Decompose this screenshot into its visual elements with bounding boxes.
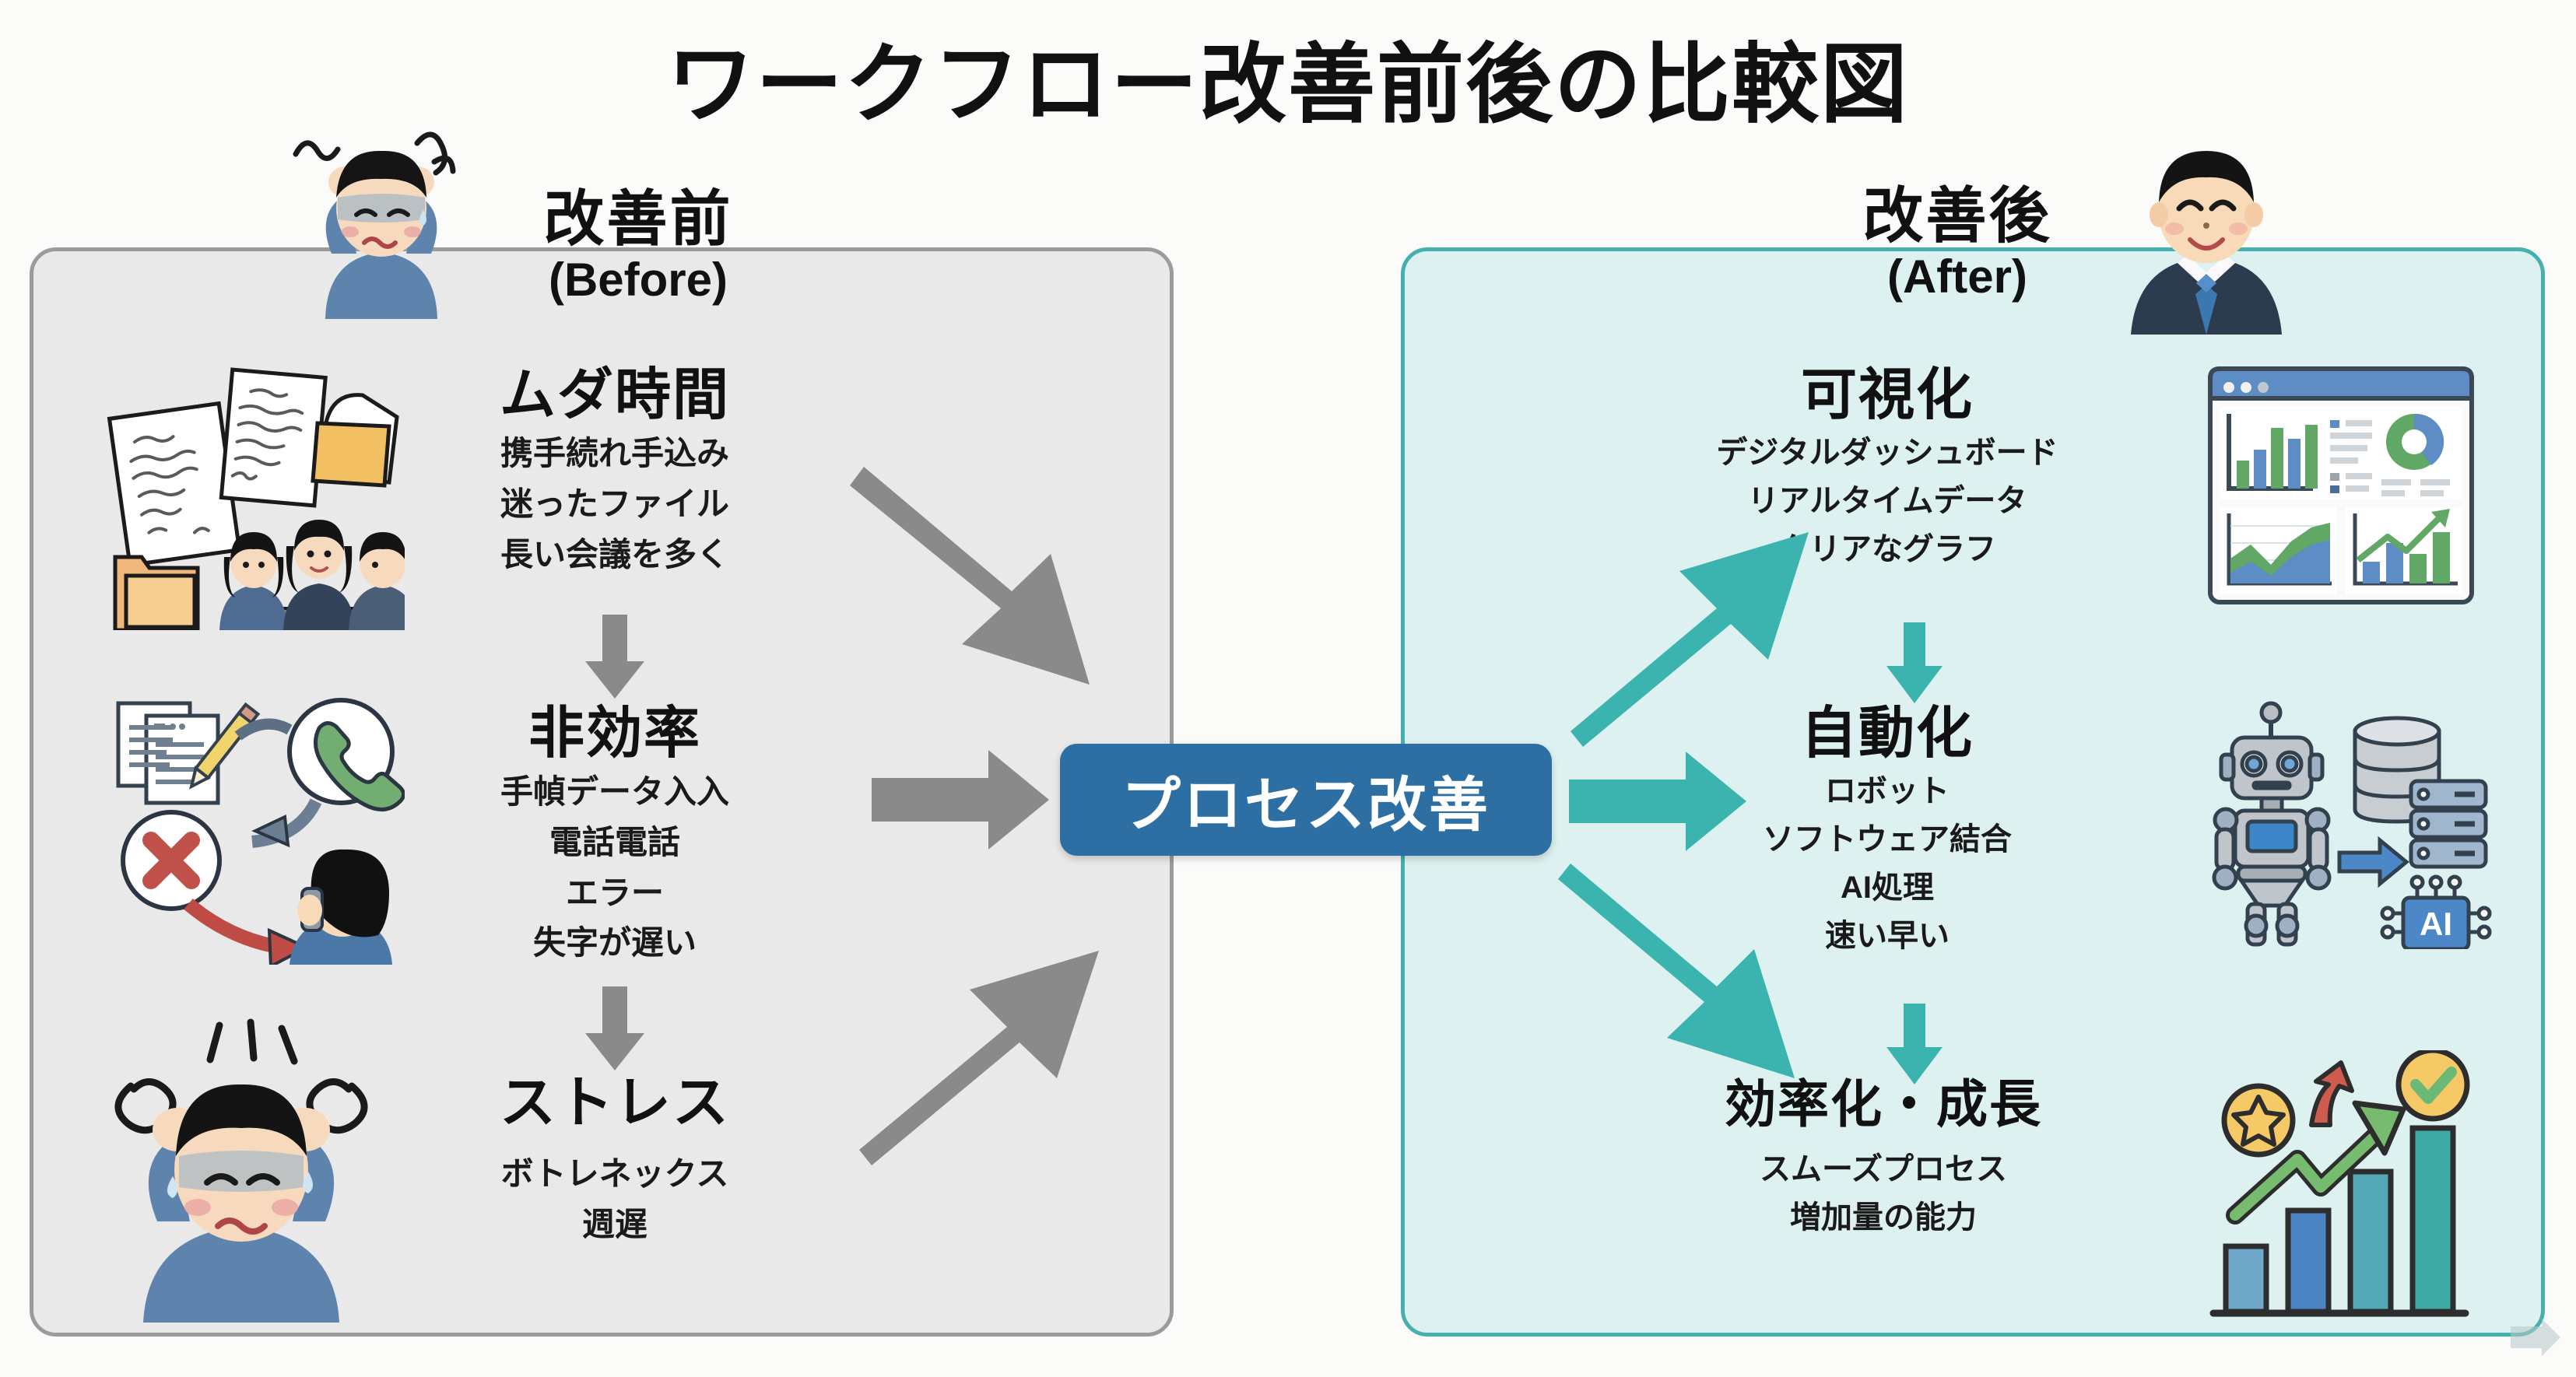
before-connector-1-icon: [576, 615, 654, 704]
before-stage-3-line-2: 週遅: [409, 1204, 821, 1246]
growth-bars-arrow-illustration: [2195, 1050, 2522, 1346]
dashboard-charts-illustration: [2202, 350, 2514, 607]
after-stage-3-line-2: 増加量の能力: [1627, 1197, 2140, 1238]
before-stage-2-line-2: 電話電話: [409, 822, 821, 864]
before-heading-en: (Before): [498, 257, 778, 303]
after-stage-2-line-3: AI処理: [1677, 867, 2097, 908]
process-improvement-label: プロセス改善: [1121, 757, 1490, 843]
before-stage-2: 非効率 手幀データ入入 電話電話 エラー 失字が遅い: [409, 704, 821, 965]
before-stage-1-line-2: 迷ったファイル: [409, 483, 821, 526]
after-stage-1-line-3: クリアなグラフ: [1646, 529, 2129, 569]
before-stage-3: ストレス ボトレネックス 週遅: [409, 1074, 821, 1246]
before-connector-2-icon: [576, 986, 654, 1076]
after-stage-2: 自動化 ロボット ソフトウェア結合 AI処理 速い早い: [1677, 704, 2097, 956]
before-stage-1-line-3: 長い会議を多く: [409, 534, 821, 576]
robot-server-ai-illustration: AI: [2210, 692, 2537, 949]
before-stage-2-line-1: 手幀データ入入: [409, 771, 821, 814]
process-improvement-box[interactable]: プロセス改善: [1060, 744, 1552, 856]
ai-chip-label: AI: [2420, 906, 2452, 942]
before-heading: 改善前 (Before): [498, 188, 778, 303]
paperwork-phone-error-illustration: [78, 677, 405, 965]
after-stage-2-title: 自動化: [1677, 704, 2097, 763]
corner-arrow-icon: [2508, 1317, 2564, 1369]
before-stage-2-title: 非効率: [409, 704, 821, 763]
before-stage-1: ムダ時間 携手続れ手込み 迷ったファイル 長い会議を多く: [409, 366, 821, 576]
before-stage-1-line-1: 携手続れ手込み: [409, 433, 821, 475]
stressed-person-avatar: [265, 117, 498, 319]
before-stage-3-title: ストレス: [409, 1074, 821, 1133]
after-heading-jp: 改善後: [1813, 185, 2101, 246]
smiling-businessman-avatar: [2093, 124, 2319, 335]
before-stage-1-title: ムダ時間: [409, 366, 821, 425]
before-stage-2-line-4: 失字が遅い: [409, 922, 821, 965]
infographic-canvas: ワークフロー改善前後の比較図: [0, 0, 2576, 1377]
after-heading-en: (After): [1813, 254, 2101, 300]
documents-folders-meeting-illustration: [78, 342, 405, 630]
before-stage-2-line-3: エラー: [409, 872, 821, 915]
after-connector-1-icon: [1876, 622, 1953, 710]
after-stage-1-line-1: デジタルダッシュボード: [1646, 433, 2129, 473]
after-stage-2-line-4: 速い早い: [1677, 916, 2097, 956]
stressed-person-illustration: [86, 1011, 397, 1323]
after-stage-3-line-1: スムーズプロセス: [1627, 1149, 2140, 1190]
after-stage-3: 効率化・成長 スムーズプロセス 増加量の能力: [1627, 1077, 2140, 1238]
after-stage-1: 可視化 デジタルダッシュボード リアルタイムデータ クリアなグラフ: [1646, 366, 2129, 569]
after-stage-2-line-2: ソフトウェア結合: [1677, 819, 2097, 860]
after-stage-3-title: 効率化・成長: [1627, 1077, 2140, 1132]
after-heading: 改善後 (After): [1813, 185, 2101, 300]
after-stage-1-title: 可視化: [1646, 366, 2129, 425]
before-stage-3-line-1: ボトレネックス: [409, 1153, 821, 1196]
before-heading-jp: 改善前: [498, 188, 778, 249]
after-stage-2-line-1: ロボット: [1677, 771, 2097, 811]
after-stage-1-line-2: リアルタイムデータ: [1646, 481, 2129, 521]
